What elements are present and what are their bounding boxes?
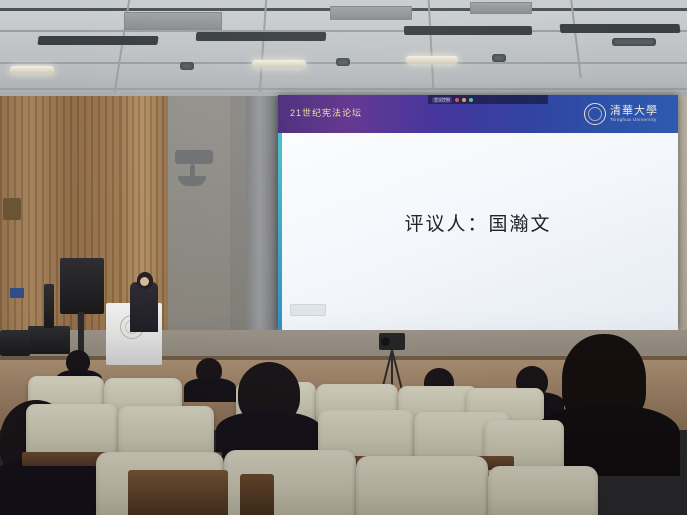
seat: [488, 466, 598, 515]
meeting-control-label: 会议控制: [432, 97, 452, 103]
wall-projector: [175, 150, 213, 164]
wall-panel-box: [3, 198, 21, 220]
audience-shoulders: [184, 378, 236, 402]
camera-lens-icon: [381, 337, 390, 346]
status-dot-green: [469, 98, 473, 102]
ceiling-light: [612, 38, 656, 46]
university-name-cn: 清華大學: [610, 105, 658, 116]
conference-hall-photo: 21世纪宪法论坛 清華大學 Tsinghua University 会议控制 评…: [0, 0, 687, 515]
meeting-control-overlay[interactable]: 会议控制: [428, 95, 548, 104]
ceiling-vent: [470, 2, 532, 14]
ceiling-vent: [124, 12, 222, 30]
status-dot-red: [455, 98, 459, 102]
presenter-body: [130, 282, 158, 332]
ceiling-light: [492, 54, 506, 62]
seat-wood-panel: [128, 470, 228, 515]
equipment-case: [28, 326, 70, 354]
wall-sign: [10, 288, 24, 298]
loudspeaker: [60, 258, 104, 314]
audience-shoulders-foreground: [0, 460, 110, 515]
presenter-face: [140, 277, 149, 286]
university-logo: 清華大學 Tsinghua University: [584, 99, 670, 129]
speaker-stand: [78, 312, 84, 352]
ceiling-light: [252, 60, 306, 68]
slide-toolbar-button[interactable]: [290, 304, 326, 316]
ceiling-light: [336, 58, 350, 66]
wall-column: [246, 96, 280, 364]
ceiling: [0, 0, 687, 104]
slide-area: 评议人：国瀚文: [278, 133, 678, 330]
monitor-stand: [44, 284, 54, 328]
ceiling-vent: [330, 6, 412, 20]
seat: [356, 456, 488, 515]
ceiling-light: [406, 56, 458, 64]
ceiling-light: [180, 62, 194, 70]
forum-banner-text: 21世纪宪法论坛: [290, 106, 362, 119]
seat-wood-panel: [240, 474, 274, 515]
status-dot-orange: [462, 98, 466, 102]
university-name-en: Tsinghua University: [610, 118, 658, 123]
slide-title-text: 评议人：国瀚文: [278, 209, 678, 236]
ceiling-light: [10, 66, 54, 74]
screen-header-banner: 21世纪宪法论坛 清華大學 Tsinghua University 会议控制: [278, 95, 678, 133]
university-seal-icon: [584, 103, 606, 125]
projection-screen: 21世纪宪法论坛 清華大學 Tsinghua University 会议控制 评…: [278, 95, 678, 330]
equipment-case: [0, 330, 30, 356]
